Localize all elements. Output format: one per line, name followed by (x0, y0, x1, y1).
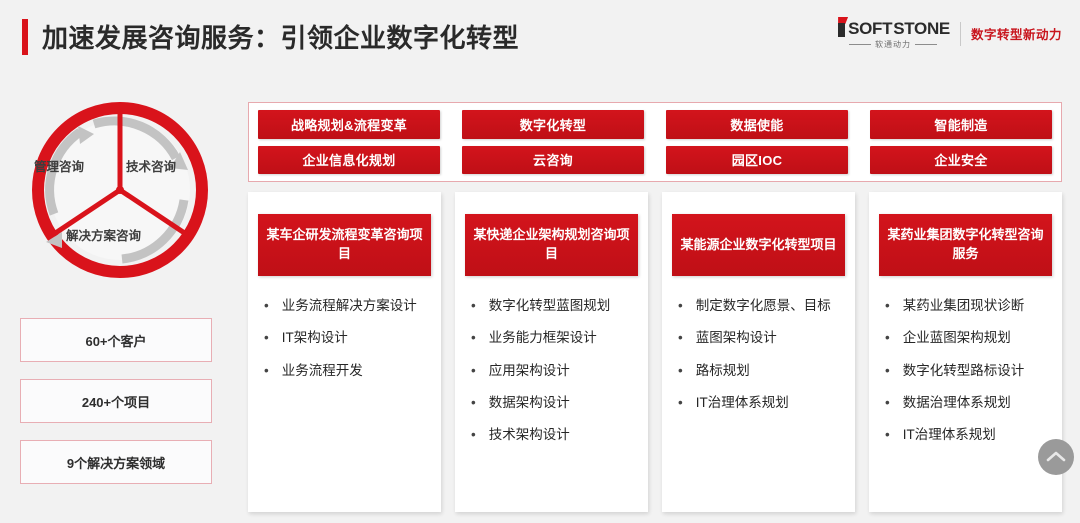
bullet-icon: • (678, 361, 683, 381)
chevron-up-icon (1046, 450, 1066, 464)
stats-list: 60+个客户 240+个项目 9个解决方案领域 (20, 318, 212, 484)
case-cards-row: 某车企研发流程变革咨询项目 •业务流程解决方案设计 •IT架构设计 •业务流程开… (248, 192, 1062, 512)
case-card-automotive[interactable]: 某车企研发流程变革咨询项目 •业务流程解决方案设计 •IT架构设计 •业务流程开… (248, 192, 441, 512)
list-item-label: 业务能力框架设计 (489, 328, 597, 348)
bullet-icon: • (678, 296, 683, 316)
logo-mark: SOFT STONE 软通动力 (836, 17, 950, 50)
service-tag-park-ioc[interactable]: 园区IOC (666, 146, 848, 175)
list-item: •数字化转型路标设计 (885, 361, 1048, 381)
bullet-icon: • (471, 296, 476, 316)
list-item: •某药业集团现状诊断 (885, 296, 1048, 316)
stat-box-projects: 240+个项目 (20, 379, 212, 423)
stat-box-customers: 60+个客户 (20, 318, 212, 362)
list-item-label: 制定数字化愿景、目标 (696, 296, 831, 316)
logo-tagline: 数字转型新动力 (971, 24, 1062, 43)
service-tag-data-enablement[interactable]: 数据使能 (666, 110, 848, 139)
list-item-label: 企业蓝图架构规划 (903, 328, 1011, 348)
list-item-label: IT治理体系规划 (696, 393, 789, 413)
case-card-logistics[interactable]: 某快递企业架构规划咨询项目 •数字化转型蓝图规划 •业务能力框架设计 •应用架构… (455, 192, 648, 512)
list-item: •业务流程解决方案设计 (264, 296, 427, 316)
list-item-label: IT架构设计 (282, 328, 348, 348)
service-tag-enterprise-security[interactable]: 企业安全 (870, 146, 1052, 175)
list-item-label: IT治理体系规划 (903, 425, 996, 445)
list-item-label: 数字化转型蓝图规划 (489, 296, 611, 316)
service-tags-grid: 战略规划&流程变革 数字化转型 数据使能 智能制造 企业信息化规划 云咨询 园区… (258, 110, 1052, 174)
list-item: •IT治理体系规划 (885, 425, 1048, 445)
list-item-label: 某药业集团现状诊断 (903, 296, 1025, 316)
list-item-label: 业务流程解决方案设计 (282, 296, 417, 316)
bullet-icon: • (471, 393, 476, 413)
bullet-icon: • (885, 393, 890, 413)
case-card-title: 某快递企业架构规划咨询项目 (465, 214, 638, 276)
list-item-label: 路标规划 (696, 361, 750, 381)
circle-segment-label-management: 管理咨询 (34, 156, 84, 175)
list-item: •IT架构设计 (264, 328, 427, 348)
service-tags-panel: 战略规划&流程变革 数字化转型 数据使能 智能制造 企业信息化规划 云咨询 园区… (248, 102, 1062, 182)
case-card-bullet-list: •数字化转型蓝图规划 •业务能力框架设计 •应用架构设计 •数据架构设计 •技术… (465, 296, 638, 445)
list-item: •数据治理体系规划 (885, 393, 1048, 413)
logo-subtext: 软通动力 (875, 39, 911, 50)
list-item-label: 技术架构设计 (489, 425, 570, 445)
list-item: •数字化转型蓝图规划 (471, 296, 634, 316)
list-item: •路标规划 (678, 361, 841, 381)
bullet-icon: • (471, 425, 476, 445)
bullet-icon: • (885, 361, 890, 381)
logo-subtext-wrap: 软通动力 (849, 39, 937, 50)
case-card-bullet-list: •某药业集团现状诊断 •企业蓝图架构规划 •数字化转型路标设计 •数据治理体系规… (879, 296, 1052, 445)
logo-wordmark: SOFT STONE (836, 17, 950, 37)
service-tag-cloud-consulting[interactable]: 云咨询 (462, 146, 644, 175)
bullet-icon: • (264, 361, 269, 381)
back-to-top-button[interactable] (1038, 439, 1074, 475)
case-card-title: 某车企研发流程变革咨询项目 (258, 214, 431, 276)
bullet-icon: • (885, 296, 890, 316)
case-card-title: 某药业集团数字化转型咨询服务 (879, 214, 1052, 276)
list-item-label: 数字化转型路标设计 (903, 361, 1025, 381)
bullet-icon: • (885, 328, 890, 348)
list-item-label: 数据治理体系规划 (903, 393, 1011, 413)
stat-box-solution-domains: 9个解决方案领域 (20, 440, 212, 484)
logo-text-soft: SOFT (848, 20, 892, 37)
page-header: 加速发展咨询服务：引领企业数字化转型 SOFT STONE 软通动力 数字转型新… (0, 0, 1080, 82)
bullet-icon: • (678, 393, 683, 413)
list-item: •蓝图架构设计 (678, 328, 841, 348)
consulting-circle-diagram: 管理咨询 技术咨询 解决方案咨询 (18, 96, 222, 284)
page-title: 加速发展咨询服务：引领企业数字化转型 (42, 18, 519, 55)
bullet-icon: • (264, 296, 269, 316)
bullet-icon: • (885, 425, 890, 445)
case-card-energy[interactable]: 某能源企业数字化转型项目 •制定数字化愿景、目标 •蓝图架构设计 •路标规划 •… (662, 192, 855, 512)
case-card-bullet-list: •制定数字化愿景、目标 •蓝图架构设计 •路标规划 •IT治理体系规划 (672, 296, 845, 413)
logo-divider (960, 22, 961, 46)
case-card-pharma[interactable]: 某药业集团数字化转型咨询服务 •某药业集团现状诊断 •企业蓝图架构规划 •数字化… (869, 192, 1062, 512)
list-item: •企业蓝图架构规划 (885, 328, 1048, 348)
circle-diagram-svg (18, 96, 222, 284)
case-card-title: 某能源企业数字化转型项目 (672, 214, 845, 276)
left-panel: 管理咨询 技术咨询 解决方案咨询 60+个客户 240+个项目 9个解决方案领域 (0, 86, 240, 523)
bullet-icon: • (471, 361, 476, 381)
list-item: •技术架构设计 (471, 425, 634, 445)
page-title-wrap: 加速发展咨询服务：引领企业数字化转型 (22, 18, 519, 55)
list-item-label: 业务流程开发 (282, 361, 363, 381)
circle-segment-label-technology: 技术咨询 (126, 156, 176, 175)
bullet-icon: • (678, 328, 683, 348)
list-item: •数据架构设计 (471, 393, 634, 413)
list-item-label: 应用架构设计 (489, 361, 570, 381)
list-item: •业务能力框架设计 (471, 328, 634, 348)
list-item: •应用架构设计 (471, 361, 634, 381)
list-item-label: 数据架构设计 (489, 393, 570, 413)
service-tag-digital-transformation[interactable]: 数字化转型 (462, 110, 644, 139)
logo-rule-left (849, 44, 871, 45)
case-card-bullet-list: •业务流程解决方案设计 •IT架构设计 •业务流程开发 (258, 296, 431, 381)
bullet-icon: • (471, 328, 476, 348)
service-tag-smart-manufacturing[interactable]: 智能制造 (870, 110, 1052, 139)
list-item: •业务流程开发 (264, 361, 427, 381)
logo-i-flag-icon (836, 17, 847, 37)
logo-rule-right (915, 44, 937, 45)
bullet-icon: • (264, 328, 269, 348)
list-item-label: 蓝图架构设计 (696, 328, 777, 348)
circle-segment-label-solution: 解决方案咨询 (66, 225, 141, 244)
brand-logo: SOFT STONE 软通动力 数字转型新动力 (836, 17, 1062, 50)
service-tag-enterprise-informatization[interactable]: 企业信息化规划 (258, 146, 440, 175)
list-item: •IT治理体系规划 (678, 393, 841, 413)
logo-text-stone: STONE (893, 20, 950, 37)
service-tag-strategy-process[interactable]: 战略规划&流程变革 (258, 110, 440, 139)
list-item: •制定数字化愿景、目标 (678, 296, 841, 316)
title-accent-bar (22, 19, 28, 55)
